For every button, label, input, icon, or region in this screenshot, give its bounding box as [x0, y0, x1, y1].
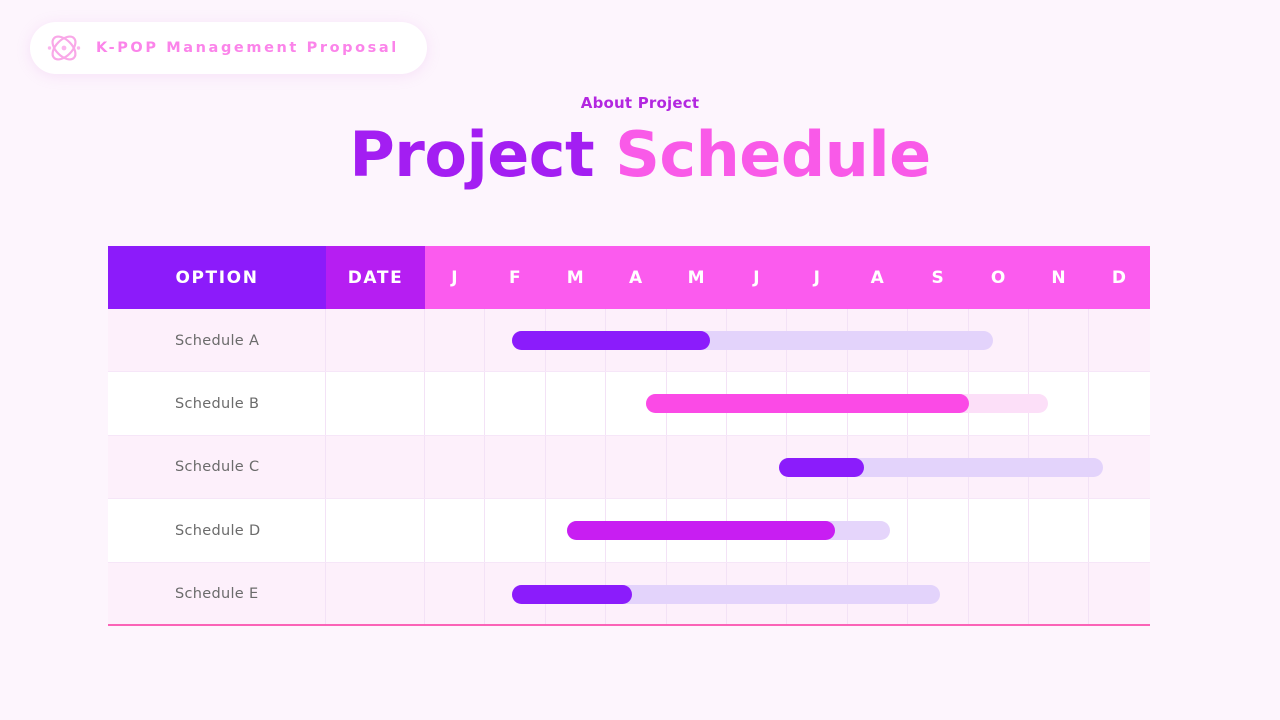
cell-r3-m0	[425, 499, 485, 562]
cell-r3-m4	[667, 499, 727, 562]
row-label-0: Schedule A	[108, 309, 326, 372]
schedule-table: OPTION DATE JFMAMJJASOND Schedule ASched…	[108, 246, 1150, 626]
cell-r1-m9	[969, 372, 1029, 435]
cell-r4-m7	[848, 563, 908, 626]
row-label-3: Schedule D	[108, 499, 326, 562]
table-body: Schedule ASchedule BSchedule CSchedule D…	[108, 309, 1150, 626]
cell-r3-m11	[1089, 499, 1149, 562]
cell-r1-m7	[848, 372, 908, 435]
header-cell-month-8: S	[908, 246, 968, 309]
cell-r2-m0	[425, 436, 485, 499]
cell-r2-m4	[667, 436, 727, 499]
cell-r3-m2	[546, 499, 606, 562]
table-header-row: OPTION DATE JFMAMJJASOND	[108, 246, 1150, 309]
cell-r0-m0	[425, 309, 485, 372]
cell-r0-m11	[1089, 309, 1149, 372]
cell-r3-m9	[969, 499, 1029, 562]
header-cell-month-4: M	[667, 246, 727, 309]
header-cell-month-9: O	[969, 246, 1029, 309]
cell-r2-m1	[485, 436, 545, 499]
cell-r0-m10	[1029, 309, 1089, 372]
row-date-0	[326, 309, 425, 372]
header-cell-option: OPTION	[108, 246, 326, 309]
header-cell-month-5: J	[727, 246, 787, 309]
row-label-1: Schedule B	[108, 372, 326, 435]
cell-r4-m5	[727, 563, 787, 626]
cell-r1-m2	[546, 372, 606, 435]
cell-r3-m5	[727, 499, 787, 562]
cell-r0-m5	[727, 309, 787, 372]
table-row: Schedule E	[108, 563, 1150, 626]
cell-r4-m2	[546, 563, 606, 626]
cell-r1-m1	[485, 372, 545, 435]
cell-r0-m3	[606, 309, 666, 372]
header-label-month-3: A	[606, 246, 666, 309]
header-label-month-1: F	[485, 246, 545, 309]
header-cell-month-3: A	[606, 246, 666, 309]
table-row: Schedule D	[108, 499, 1150, 562]
cell-r2-m10	[1029, 436, 1089, 499]
row-date-3	[326, 499, 425, 562]
cell-r2-m11	[1089, 436, 1149, 499]
cell-r1-m11	[1089, 372, 1149, 435]
cell-r1-m0	[425, 372, 485, 435]
page-eyebrow: About Project	[0, 94, 1280, 112]
cell-r1-m3	[606, 372, 666, 435]
cell-r2-m2	[546, 436, 606, 499]
header-cell-month-2: M	[546, 246, 606, 309]
header-cell-month-11: D	[1089, 246, 1149, 309]
cell-r0-m9	[969, 309, 1029, 372]
cell-r4-m8	[908, 563, 968, 626]
cell-r3-m7	[848, 499, 908, 562]
row-label-4: Schedule E	[108, 563, 326, 626]
cell-r2-m7	[848, 436, 908, 499]
cell-r2-m5	[727, 436, 787, 499]
cell-r3-m1	[485, 499, 545, 562]
header-label-month-11: D	[1089, 246, 1149, 309]
row-date-4	[326, 563, 425, 626]
cell-r1-m4	[667, 372, 727, 435]
cell-r3-m3	[606, 499, 666, 562]
header-label-month-4: M	[667, 246, 727, 309]
cell-r2-m8	[908, 436, 968, 499]
row-date-2	[326, 436, 425, 499]
table-row: Schedule B	[108, 372, 1150, 435]
header-label-month-7: A	[848, 246, 908, 309]
header-label-month-5: J	[727, 246, 787, 309]
cell-r3-m8	[908, 499, 968, 562]
header-cell-month-6: J	[787, 246, 847, 309]
page-title: Project Schedule	[0, 118, 1280, 192]
table-row: Schedule C	[108, 436, 1150, 499]
header-months: JFMAMJJASOND	[425, 246, 1150, 309]
cell-r0-m4	[667, 309, 727, 372]
cell-r3-m6	[787, 499, 847, 562]
header-label-month-2: M	[546, 246, 606, 309]
cell-r0-m1	[485, 309, 545, 372]
cell-r4-m11	[1089, 563, 1149, 626]
brand-badge[interactable]: K-POP Management Proposal	[30, 22, 427, 74]
header-label-date: DATE	[326, 246, 425, 309]
cell-r2-m9	[969, 436, 1029, 499]
cell-r1-m8	[908, 372, 968, 435]
cell-r1-m5	[727, 372, 787, 435]
cell-r0-m6	[787, 309, 847, 372]
atom-icon	[44, 28, 84, 68]
header-cell-month-0: J	[425, 246, 485, 309]
cell-r4-m4	[667, 563, 727, 626]
table-row: Schedule A	[108, 309, 1150, 372]
header-cell-date: DATE	[326, 246, 425, 309]
header-label-month-9: O	[969, 246, 1029, 309]
cell-r1-m6	[787, 372, 847, 435]
cell-r0-m7	[848, 309, 908, 372]
cell-r2-m6	[787, 436, 847, 499]
header-label-month-6: J	[787, 246, 847, 309]
row-label-2: Schedule C	[108, 436, 326, 499]
cell-r4-m1	[485, 563, 545, 626]
page-title-part-1: Project	[349, 118, 594, 191]
row-date-1	[326, 372, 425, 435]
header-label-month-0: J	[425, 246, 485, 309]
brand-label: K-POP Management Proposal	[96, 40, 399, 56]
cell-r0-m8	[908, 309, 968, 372]
header-cell-month-7: A	[848, 246, 908, 309]
header-label-month-8: S	[908, 246, 968, 309]
cell-r3-m10	[1029, 499, 1089, 562]
cell-r4-m0	[425, 563, 485, 626]
header-cell-month-1: F	[485, 246, 545, 309]
cell-r4-m9	[969, 563, 1029, 626]
cell-r4-m10	[1029, 563, 1089, 626]
header-label-month-10: N	[1029, 246, 1089, 309]
cell-r4-m3	[606, 563, 666, 626]
cell-r0-m2	[546, 309, 606, 372]
cell-r1-m10	[1029, 372, 1089, 435]
header-label-option: OPTION	[108, 246, 326, 309]
cell-r2-m3	[606, 436, 666, 499]
cell-r4-m6	[787, 563, 847, 626]
header-cell-month-10: N	[1029, 246, 1089, 309]
page-title-part-2: Schedule	[615, 118, 930, 191]
